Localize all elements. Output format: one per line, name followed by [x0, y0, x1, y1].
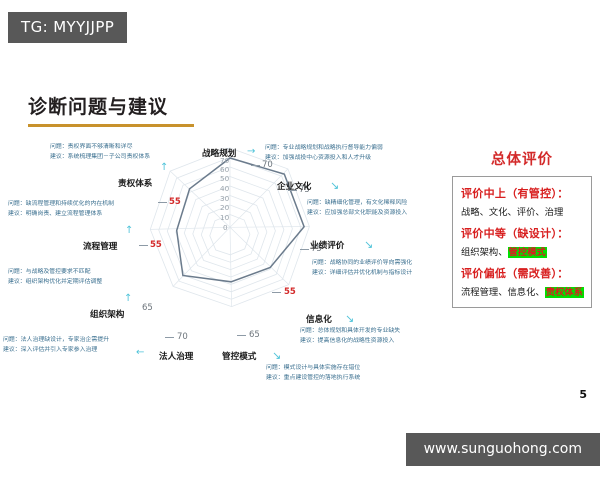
page-number: 5	[579, 388, 587, 401]
annotation-problem: 问题：缺流程管理和持续优化的内在机制	[8, 200, 114, 210]
eval-head-upper: 评价中上（有管控）：	[461, 185, 584, 201]
scale-tick-40: 40	[220, 184, 230, 193]
annotation-zeqiantixi: 问题：责权界面不够清晰和详尽 建议：系统梳理集团－子公司责权体系	[50, 143, 150, 162]
axis-label-farenzhili: 法人治理	[159, 350, 193, 362]
annotation-problem: 问题：法人治理缺设计，专家治企需提升	[3, 336, 109, 346]
arrow-down-yejipingjia: ↘	[364, 239, 373, 250]
arrow-down-qiyewenhua: ↘	[330, 180, 339, 191]
annotation-zuzhijiagou: 问题：与战略及管控要求不匹配 建议：组织架构优化并定期评估调整	[8, 268, 102, 287]
overall-evaluation-panel: 总体评价 评价中上（有管控）： 战略、文化、评价、治理 评价中等（缺设计）： 组…	[452, 148, 592, 308]
arrow-right-zhanlueguihua: →	[247, 147, 255, 157]
annotation-advice: 建议：详细评估并优化机制与指标设计	[312, 269, 412, 279]
value-label-zeqiantixi: 55	[169, 197, 181, 207]
annotation-advice: 建议：组织架构优化并定期评估调整	[8, 278, 102, 288]
annotation-zhanlueguihua: 问题：专业战略规划和战略执行督导能力偏弱 建议：加强战投中心资源投入和人才升级	[265, 144, 383, 163]
annotation-advice: 建议：明确岗责、建立流程管理体系	[8, 210, 114, 220]
annotation-liuchengguanli: 问题：缺流程管理和持续优化的内在机制 建议：明确岗责、建立流程管理体系	[8, 200, 114, 219]
annotation-advice: 建议：重点建设管控的落地执行系统	[266, 374, 360, 384]
eval-body-upper: 战略、文化、评价、治理	[461, 204, 584, 218]
value-label-guankongmoshi: 65	[249, 330, 260, 340]
value-dash-faren	[165, 337, 174, 338]
value-dash-guankong	[237, 335, 246, 336]
tg-badge: TG: MYYJJPP	[8, 12, 127, 43]
eval-head-medium: 评价中等（缺设计）：	[461, 225, 584, 241]
value-dash-xinxihua	[272, 292, 281, 293]
value-label-zuzhijiagou: 65	[142, 303, 153, 313]
annotation-advice: 建议：深入评估并引入专家参入治理	[3, 346, 109, 356]
eval-head-low: 评价偏低（需改善）：	[461, 265, 584, 281]
annotation-problem: 问题：模式设计与具体实施存在错位	[266, 364, 360, 374]
annotation-guankongmoshi: 问题：模式设计与具体实施存在错位 建议：重点建设管控的落地执行系统	[266, 364, 360, 383]
value-label-farenzhili: 70	[177, 332, 188, 342]
eval-body-low-pre: 流程管理、信息化、	[461, 287, 545, 298]
page-title-block: 诊断问题与建议	[28, 92, 194, 127]
annotation-problem: 问题：总体规划和具体开发的专业缺失	[300, 327, 400, 337]
scale-tick-10: 10	[220, 213, 230, 222]
page-title: 诊断问题与建议	[28, 92, 194, 119]
annotation-qiyewenhua: 问题：缺精细化管理，有文化稀释风险 建议：应加强总部文化职能及资源投入	[307, 199, 407, 218]
footer-website-url: www.sunguohong.com	[406, 433, 600, 466]
axis-label-qiyewenhua: 企业文化	[277, 180, 311, 192]
annotation-problem: 问题：责权界面不够清晰和详尽	[50, 143, 150, 153]
annotation-farenzhili: 问题：法人治理缺设计，专家治企需提升 建议：深入评估并引入专家参入治理	[3, 336, 109, 355]
arrow-up-liuchengguanli: ↑	[125, 226, 133, 236]
arrow-left-farenzhili: ←	[136, 348, 144, 358]
axis-label-zuzhijiagou: 组织架构	[90, 308, 124, 320]
eval-highlight-guankongmoshi: 管控模式	[508, 247, 547, 258]
value-label-xinxihua: 55	[284, 287, 296, 297]
radar-spokes	[150, 148, 309, 307]
annotation-yejipingjia: 问题：战略协同的业绩评价导向需强化 建议：详细评估并优化机制与指标设计	[312, 259, 412, 278]
value-dash-yeji	[300, 249, 309, 250]
scale-tick-50: 50	[220, 174, 230, 183]
eval-body-low: 流程管理、信息化、责权体系	[461, 284, 584, 298]
scale-tick-60: 60	[220, 165, 230, 174]
scale-tick-20: 20	[220, 203, 230, 212]
annotation-advice: 建议：加强战投中心资源投入和人才升级	[265, 154, 383, 164]
overall-evaluation-title: 总体评价	[452, 148, 592, 169]
scale-tick-30: 30	[220, 194, 230, 203]
axis-label-yejipingjia: 业绩评价	[310, 239, 344, 251]
arrow-up-zeqiantixi: ↑	[160, 163, 168, 173]
annotation-advice: 建议：提高信息化的战略性资源投入	[300, 337, 400, 347]
annotation-advice: 建议：系统梳理集团－子公司责权体系	[50, 153, 150, 163]
axis-label-xinxihua: 信息化	[306, 313, 332, 325]
arrow-up-zuzhijiagou: ↑	[124, 294, 132, 304]
eval-body-medium-pre: 组织架构、	[461, 247, 508, 258]
title-underline	[28, 124, 194, 127]
eval-highlight-zeqiantixi: 责权体系	[545, 287, 584, 298]
annotation-problem: 问题：战略协同的业绩评价导向需强化	[312, 259, 412, 269]
annotation-problem: 问题：与战略及管控要求不匹配	[8, 268, 102, 278]
annotation-xinxihua: 问题：总体规划和具体开发的专业缺失 建议：提高信息化的战略性资源投入	[300, 327, 400, 346]
axis-label-liuchengguanli: 流程管理	[83, 240, 117, 252]
value-dash-zeqian	[158, 202, 167, 203]
arrow-down-xinxihua: ↘	[345, 313, 354, 324]
value-dash-zhanlue	[251, 165, 260, 166]
arrow-down-guankongmoshi: ↘	[272, 350, 281, 361]
overall-evaluation-box: 评价中上（有管控）： 战略、文化、评价、治理 评价中等（缺设计）： 组织架构、管…	[452, 176, 592, 308]
axis-label-zhanlueguihua: 战略规划	[202, 147, 236, 159]
annotation-advice: 建议：应加强总部文化职能及资源投入	[307, 209, 407, 219]
value-label-liuchengguanli: 55	[150, 240, 162, 250]
annotation-problem: 问题：专业战略规划和战略执行督导能力偏弱	[265, 144, 383, 154]
axis-label-zeqiantixi: 责权体系	[118, 177, 152, 189]
eval-body-medium: 组织架构、管控模式	[461, 244, 584, 258]
value-dash-liucheng	[139, 245, 148, 246]
axis-label-guankongmoshi: 管控模式	[222, 350, 256, 362]
annotation-problem: 问题：缺精细化管理，有文化稀释风险	[307, 199, 407, 209]
scale-tick-0: 0	[223, 223, 228, 232]
